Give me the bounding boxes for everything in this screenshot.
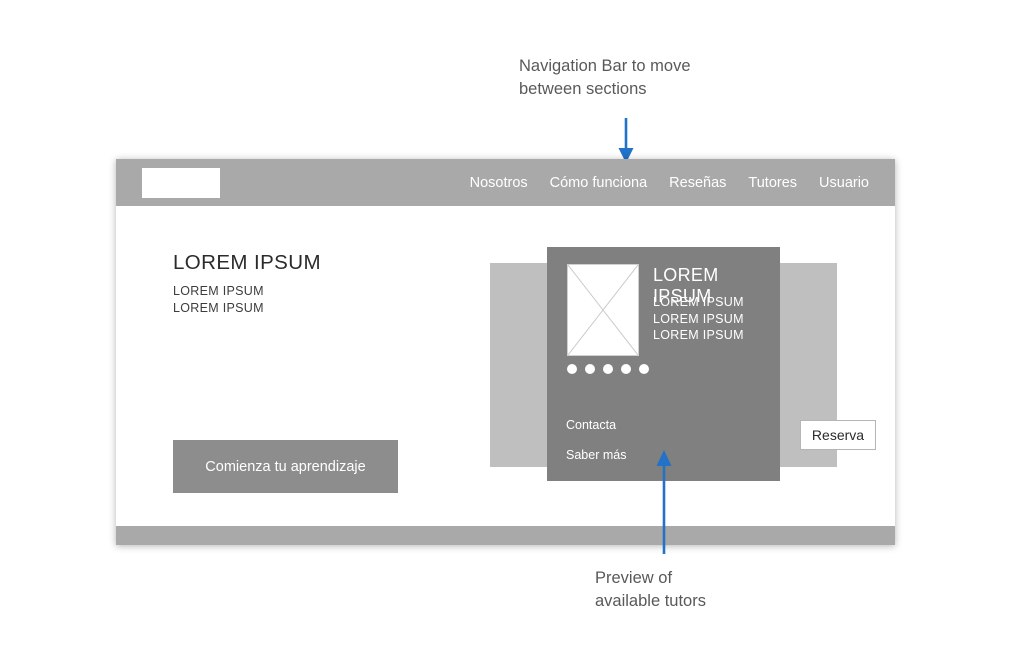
reserve-button[interactable]: Reserva — [800, 420, 876, 450]
start-learning-button-label: Comienza tu aprendizaje — [205, 459, 365, 475]
tutor-card-body-text: LOREM IPSUM LOREM IPSUM LOREM IPSUM — [653, 294, 744, 344]
hero-body-text: LOREM IPSUM LOREM IPSUM — [173, 283, 264, 316]
learn-more-link[interactable]: Saber más — [566, 447, 626, 463]
nav-link-como-funciona[interactable]: Cómo funciona — [550, 175, 648, 191]
carousel-dot[interactable] — [567, 364, 577, 374]
logo-placeholder[interactable] — [142, 168, 220, 198]
annotation-tutor-preview: Preview of available tutors — [595, 567, 855, 613]
contact-link[interactable]: Contacta — [566, 417, 626, 433]
arrow-up-icon — [653, 450, 675, 554]
nav-link-resenas[interactable]: Reseñas — [669, 175, 726, 191]
reserve-button-label: Reserva — [812, 427, 864, 443]
tutor-preview-card[interactable]: LOREM IPSUM LOREM IPSUM LOREM IPSUM LORE… — [547, 247, 780, 481]
tutor-card-links: Contacta Saber más — [566, 417, 626, 477]
website-wireframe-mock: Nosotros Cómo funciona Reseñas Tutores U… — [116, 159, 895, 545]
carousel-dots — [567, 364, 649, 374]
nav-link-tutores[interactable]: Tutores — [748, 175, 797, 191]
annotation-navigation-bar: Navigation Bar to move between sections — [519, 55, 779, 101]
footer-bar — [116, 526, 895, 545]
navigation-bar: Nosotros Cómo funciona Reseñas Tutores U… — [116, 159, 895, 206]
arrow-down-icon — [615, 118, 637, 164]
start-learning-button[interactable]: Comienza tu aprendizaje — [173, 440, 398, 493]
nav-link-usuario[interactable]: Usuario — [819, 175, 869, 191]
carousel-dot[interactable] — [603, 364, 613, 374]
hero-title: LOREM IPSUM — [173, 251, 321, 275]
carousel-dot[interactable] — [639, 364, 649, 374]
carousel-dot[interactable] — [585, 364, 595, 374]
nav-links: Nosotros Cómo funciona Reseñas Tutores U… — [470, 159, 869, 206]
image-placeholder-x-icon — [567, 264, 639, 356]
nav-link-nosotros[interactable]: Nosotros — [470, 175, 528, 191]
carousel-dot[interactable] — [621, 364, 631, 374]
